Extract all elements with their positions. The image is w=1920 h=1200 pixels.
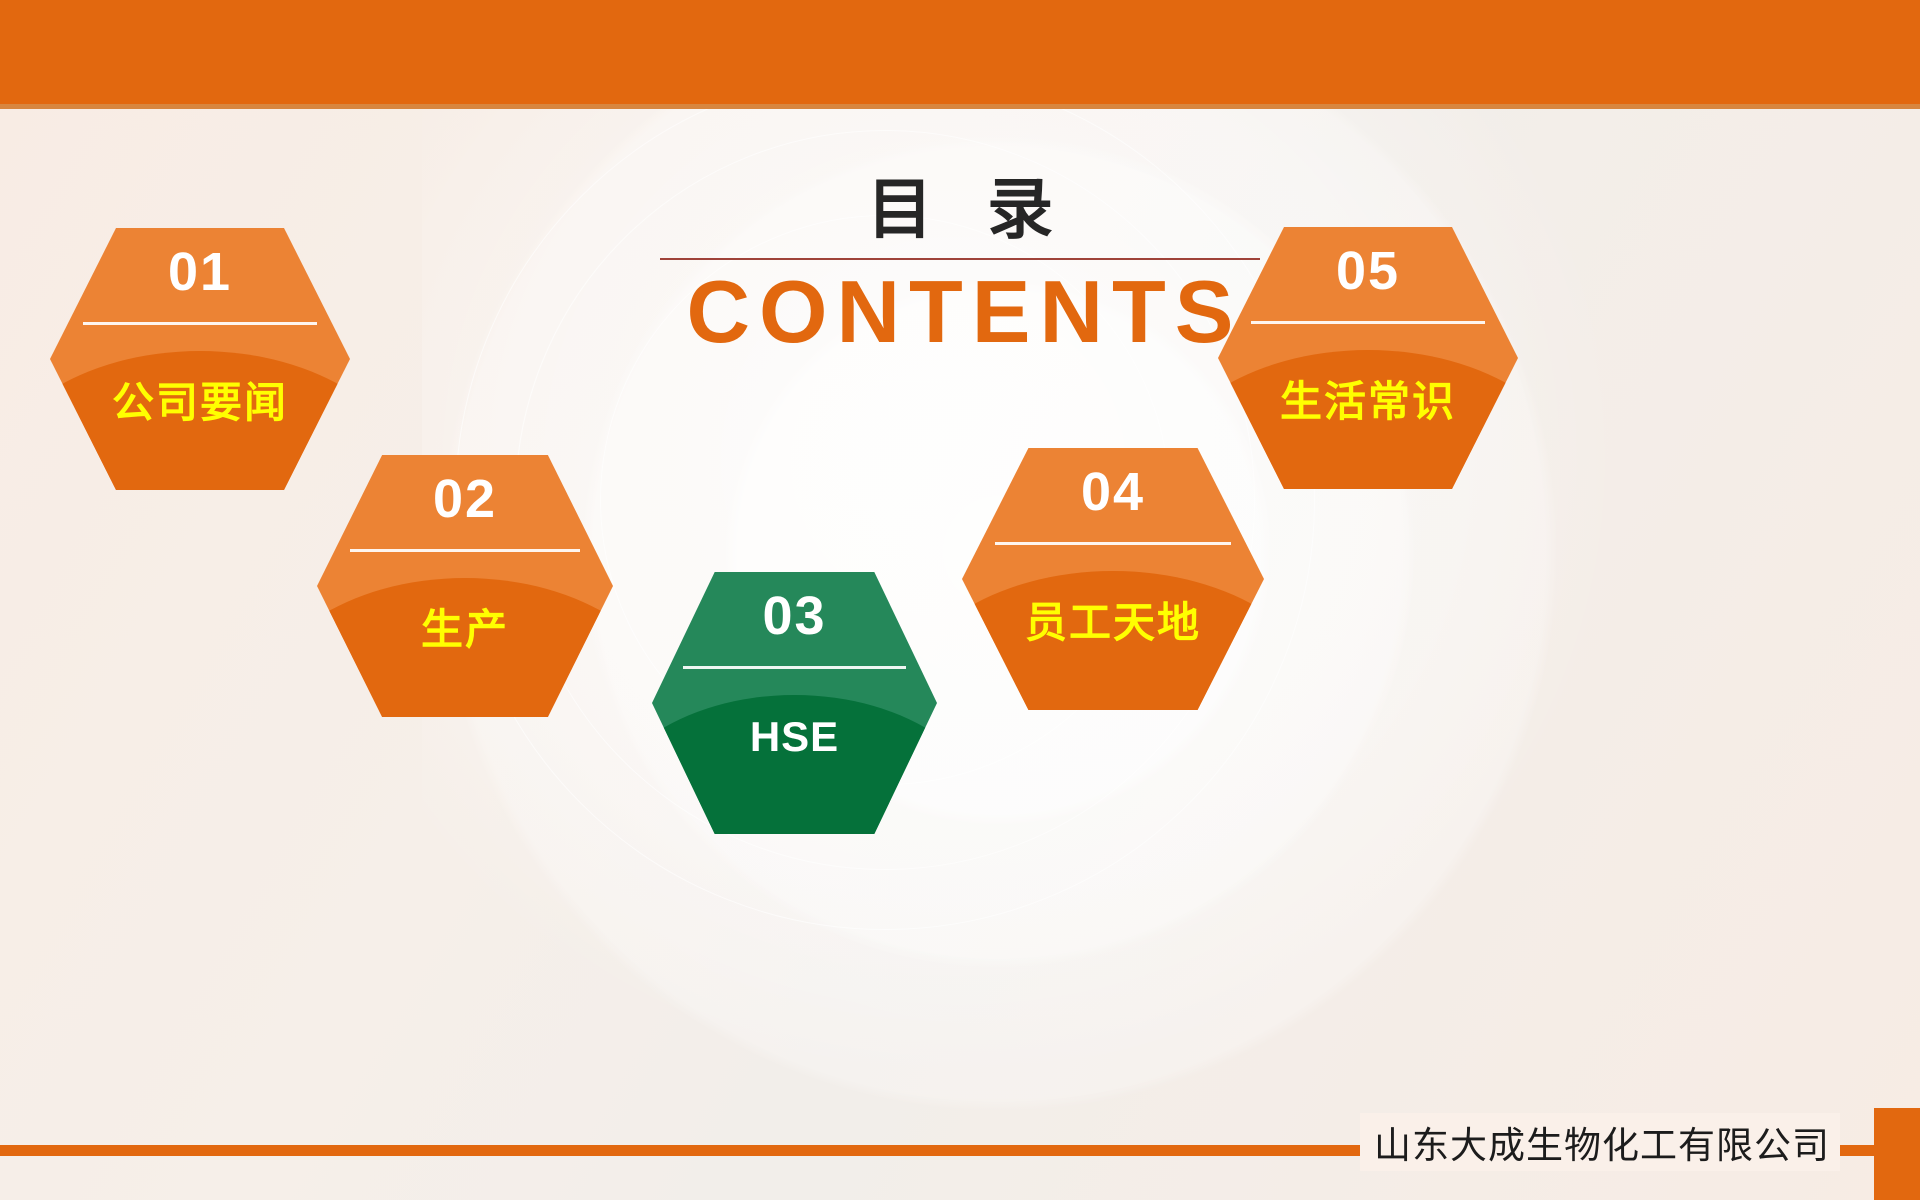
agenda-item-number: 03 [652,585,937,647]
agenda-item-04[interactable]: 04 员工天地 [962,448,1264,710]
hex-divider [83,322,317,325]
footer-accent-square [1874,1108,1920,1200]
page-title-block: 目 录 CONTENTS [660,175,1260,359]
agenda-item-number: 01 [50,241,350,303]
hex-divider [350,549,581,552]
agenda-item-label: 公司要闻 [50,369,350,430]
page-title-chinese: 目 录 [660,175,1260,244]
agenda-item-number: 04 [962,461,1264,523]
agenda-item-03[interactable]: 03 HSE [652,572,937,834]
agenda-item-label: HSE [652,713,937,761]
agenda-item-label: 员工天地 [962,589,1264,650]
agenda-item-number: 05 [1218,240,1518,302]
footer-company-name: 山东大成生物化工有限公司 [1360,1113,1840,1171]
agenda-item-05[interactable]: 05 生活常识 [1218,227,1518,489]
hex-divider [683,666,905,669]
agenda-item-number: 02 [317,468,613,530]
page-title-english: CONTENTS [660,264,1260,359]
agenda-item-label: 生产 [317,596,613,657]
hex-divider [1251,321,1485,324]
slide-canvas: 目 录 CONTENTS 01 公司要闻 02 生产 03 HSE 04 员工 [0,0,1920,1200]
top-banner-bar [0,0,1920,104]
agenda-item-label: 生活常识 [1218,368,1518,429]
agenda-item-01[interactable]: 01 公司要闻 [50,228,350,490]
top-banner-edge [0,104,1920,109]
hex-divider [995,542,1231,545]
agenda-item-02[interactable]: 02 生产 [317,455,613,717]
title-divider [660,258,1260,260]
